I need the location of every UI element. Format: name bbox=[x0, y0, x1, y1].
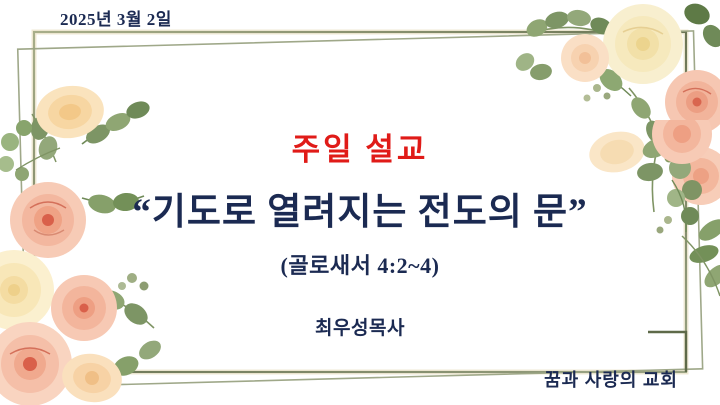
sermon-kicker: 주일 설교 bbox=[0, 124, 720, 169]
sermon-title: “기도로 열려지는 전도의 문” bbox=[0, 181, 720, 235]
roses-tr bbox=[561, 4, 720, 205]
scripture-reference: (골로새서 4:2~4) bbox=[0, 248, 720, 280]
floral-cluster-top-right bbox=[511, 0, 720, 207]
church-name: 꿈과 사랑의 교회 bbox=[544, 366, 678, 392]
sermon-slide: 2025년 3월 2일 주일 설교 “기도로 열려지는 전도의 문” (골로새서… bbox=[0, 0, 720, 405]
preacher-name: 최우성목사 bbox=[0, 313, 720, 340]
sermon-date: 2025년 3월 2일 bbox=[60, 5, 172, 30]
